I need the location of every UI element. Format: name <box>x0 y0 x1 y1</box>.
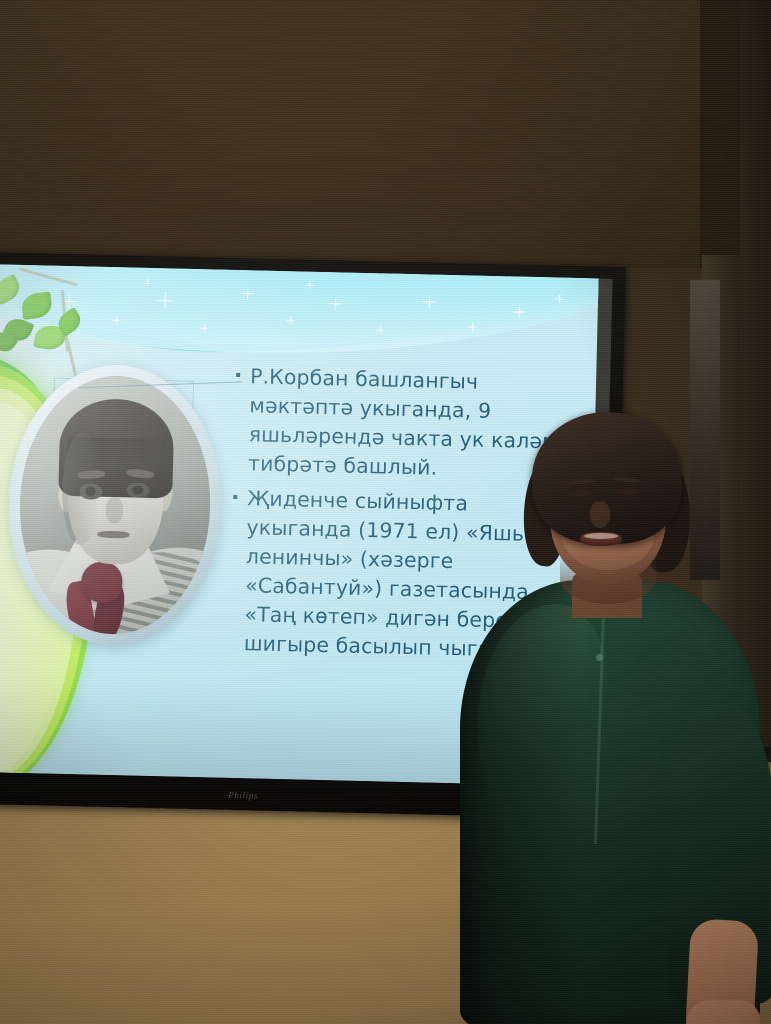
sparkle-icon <box>518 311 521 314</box>
portrait-tone <box>17 374 213 636</box>
sparkle-icon <box>428 300 431 303</box>
sparkle-icon <box>558 297 560 299</box>
tv-brand-logo: Philips <box>228 785 298 798</box>
portrait-photo <box>17 374 213 636</box>
presenter-body-shadow <box>460 580 580 1024</box>
sparkle-icon <box>146 282 148 284</box>
sparkle-icon <box>246 292 249 295</box>
tv-brand-label: Philips <box>228 790 258 801</box>
photo-frame-oval <box>6 363 225 648</box>
sparkle-icon <box>163 298 167 302</box>
presenter-teeth <box>584 533 618 539</box>
sparkle-icon <box>308 284 310 286</box>
sparkle-icon <box>471 325 473 327</box>
bullet-marker-icon <box>236 373 250 377</box>
presenter-dress-button <box>596 654 603 661</box>
wall-upper <box>0 0 771 268</box>
sparkle-icon <box>334 302 337 305</box>
leaf-icon <box>0 274 24 305</box>
presenter-hand <box>686 1000 760 1024</box>
photo-scene: Р.Корбан башлангыч мәктәптә укыганда, 9 … <box>0 0 771 1024</box>
bullet-marker-icon <box>233 495 247 499</box>
presenter-chin-shadow <box>560 554 656 604</box>
leaf-icon <box>20 292 53 320</box>
presenter <box>420 404 771 1024</box>
sparkle-icon <box>379 329 381 331</box>
sparkle-icon <box>203 327 205 329</box>
presenter-nose <box>590 502 610 528</box>
sparkle-icon <box>289 319 291 321</box>
